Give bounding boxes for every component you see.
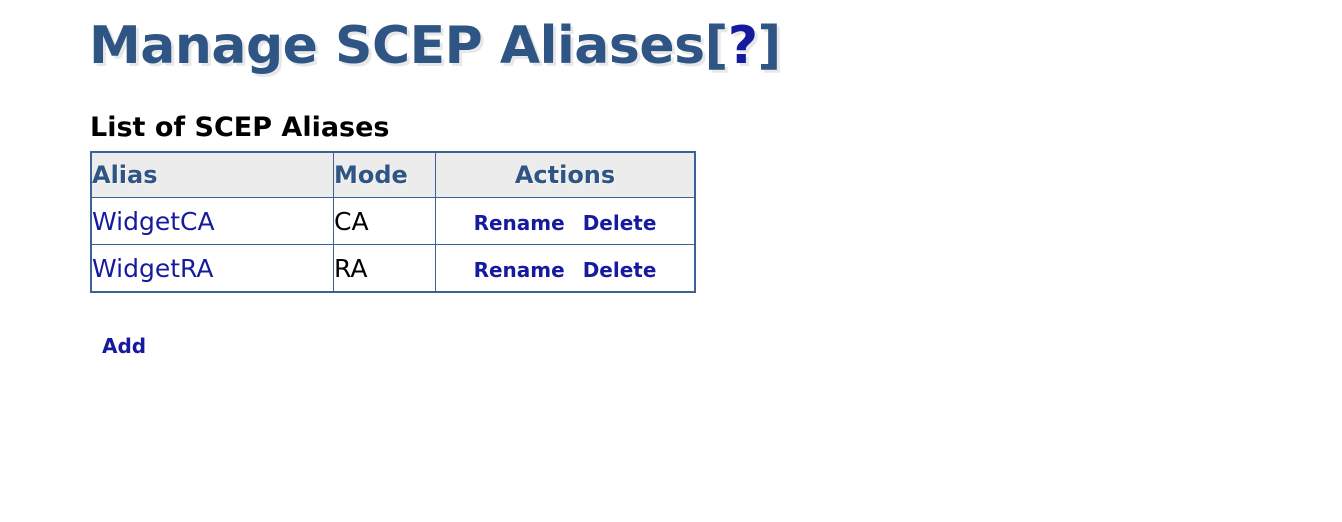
cell-mode: CA	[334, 198, 436, 245]
cell-mode: RA	[334, 245, 436, 293]
table-header-row: Alias Mode Actions	[91, 152, 695, 198]
column-header-alias: Alias	[91, 152, 334, 198]
cell-alias: WidgetRA	[91, 245, 334, 293]
alias-table-body: WidgetCA CA RenameDelete WidgetRA RA Ren…	[91, 198, 695, 293]
column-header-actions: Actions	[436, 152, 696, 198]
alias-table-head: Alias Mode Actions	[91, 152, 695, 198]
page-title: Manage SCEP Aliases[?]	[89, 18, 781, 74]
alias-link[interactable]: WidgetRA	[92, 254, 214, 283]
rename-link[interactable]: Rename	[474, 211, 565, 235]
alias-link[interactable]: WidgetCA	[92, 207, 215, 236]
table-row: WidgetRA RA RenameDelete	[91, 245, 695, 293]
cell-alias: WidgetCA	[91, 198, 334, 245]
help-bracket-open: [	[705, 16, 728, 76]
help-bracket-close: ]	[757, 16, 780, 76]
cell-actions: RenameDelete	[436, 245, 696, 293]
page-title-text: Manage SCEP Aliases	[89, 16, 705, 76]
page-root: Manage SCEP Aliases[?] List of SCEP Alia…	[0, 0, 1342, 522]
add-link[interactable]: Add	[102, 334, 146, 358]
cell-actions: RenameDelete	[436, 198, 696, 245]
delete-link[interactable]: Delete	[583, 258, 657, 282]
column-header-mode: Mode	[334, 152, 436, 198]
alias-table: Alias Mode Actions WidgetCA CA RenameDel…	[90, 151, 696, 293]
section-heading: List of SCEP Aliases	[90, 112, 390, 143]
delete-link[interactable]: Delete	[583, 211, 657, 235]
help-link[interactable]: ?	[728, 16, 758, 76]
table-row: WidgetCA CA RenameDelete	[91, 198, 695, 245]
rename-link[interactable]: Rename	[474, 258, 565, 282]
alias-table-container: Alias Mode Actions WidgetCA CA RenameDel…	[90, 151, 696, 293]
